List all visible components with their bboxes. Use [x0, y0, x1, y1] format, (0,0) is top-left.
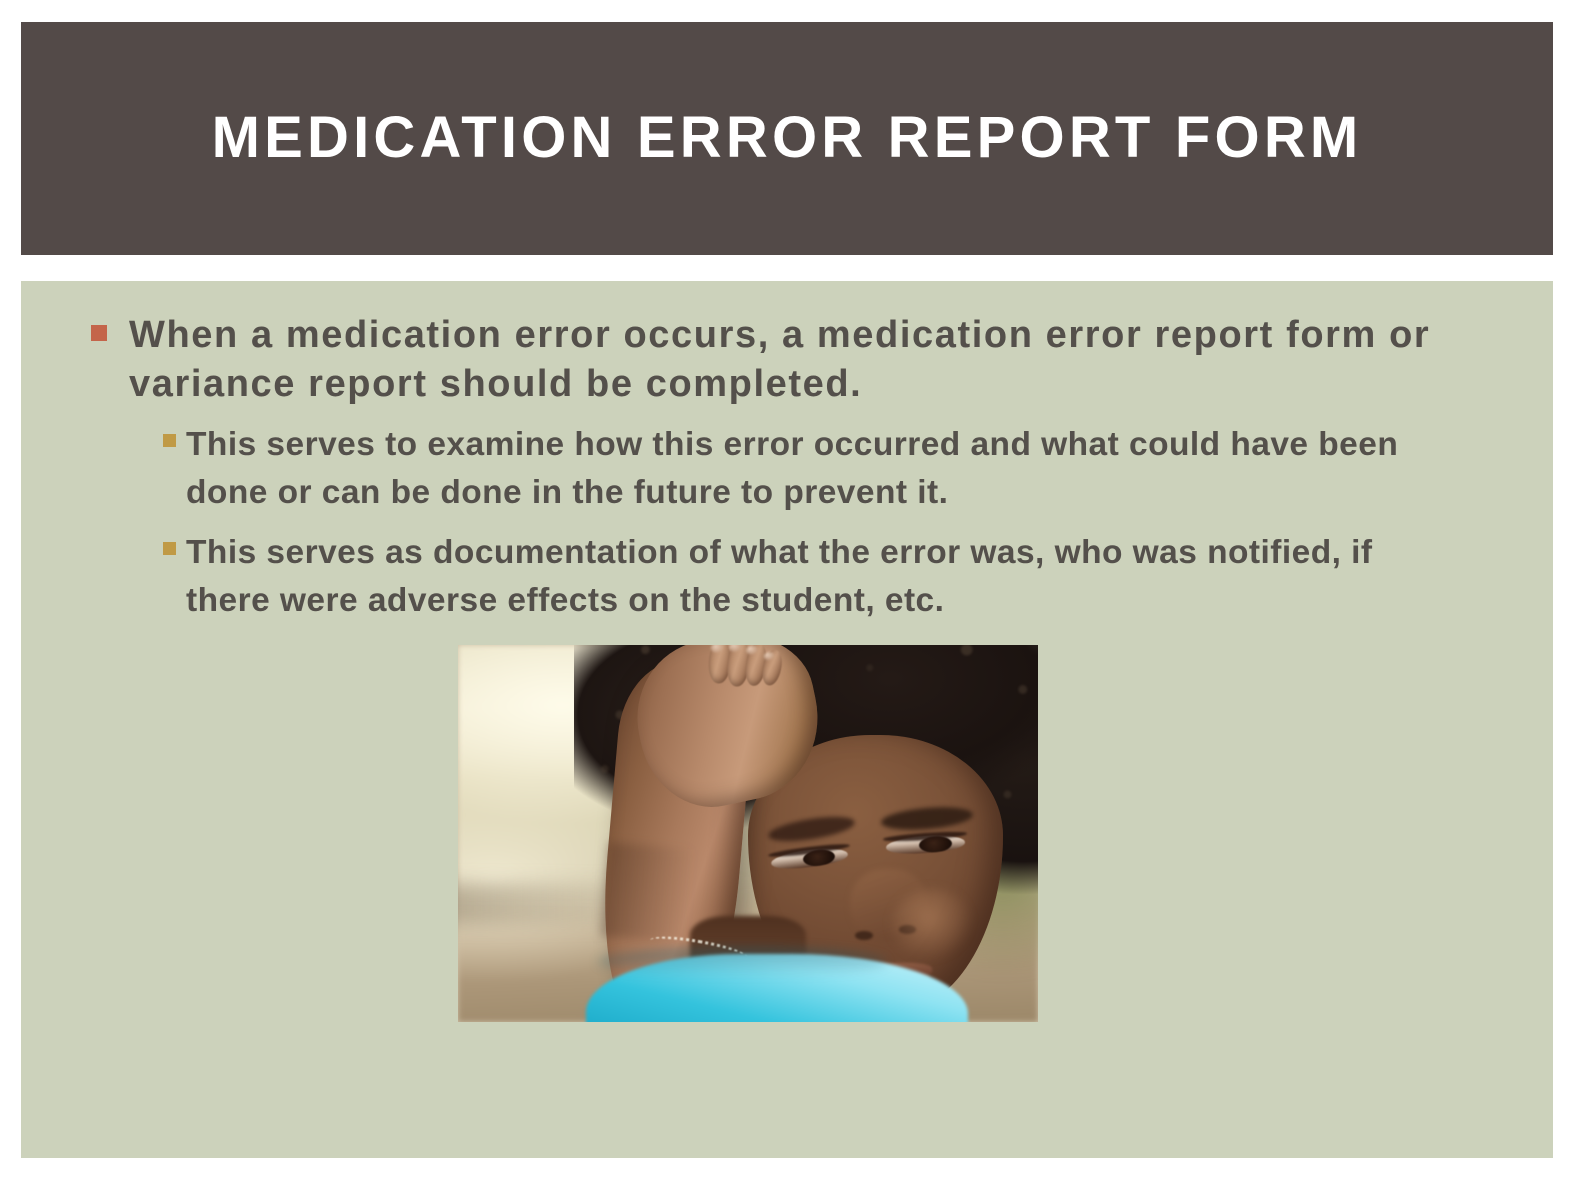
title-banner: Medication Error Report Form: [21, 22, 1553, 255]
content-panel: When a medication error occurs, a medica…: [21, 281, 1553, 1158]
square-bullet-icon: [163, 434, 176, 447]
list-item: When a medication error occurs, a medica…: [21, 281, 1553, 408]
shirt-shading: [597, 947, 887, 977]
nostril-left: [855, 931, 873, 940]
photo-canvas: [458, 645, 1038, 1022]
eyebrow-left: [767, 812, 856, 845]
photo-distressed-student: [458, 645, 1038, 1022]
square-bullet-icon: [91, 325, 107, 341]
bullet-list: When a medication error occurs, a medica…: [21, 281, 1553, 625]
page-title: Medication Error Report Form: [212, 108, 1363, 169]
cheek-highlight: [891, 889, 973, 962]
slide: Medication Error Report Form When a medi…: [0, 0, 1574, 1184]
list-item-label: This serves as documentation of what the…: [186, 516, 1463, 624]
list-item-label: When a medication error occurs, a medica…: [129, 281, 1443, 408]
list-item: This serves to examine how this error oc…: [21, 408, 1553, 516]
square-bullet-icon: [163, 542, 176, 555]
list-item: This serves as documentation of what the…: [21, 516, 1553, 624]
list-item-label: This serves to examine how this error oc…: [186, 408, 1463, 516]
eyebrow-right: [880, 804, 973, 833]
